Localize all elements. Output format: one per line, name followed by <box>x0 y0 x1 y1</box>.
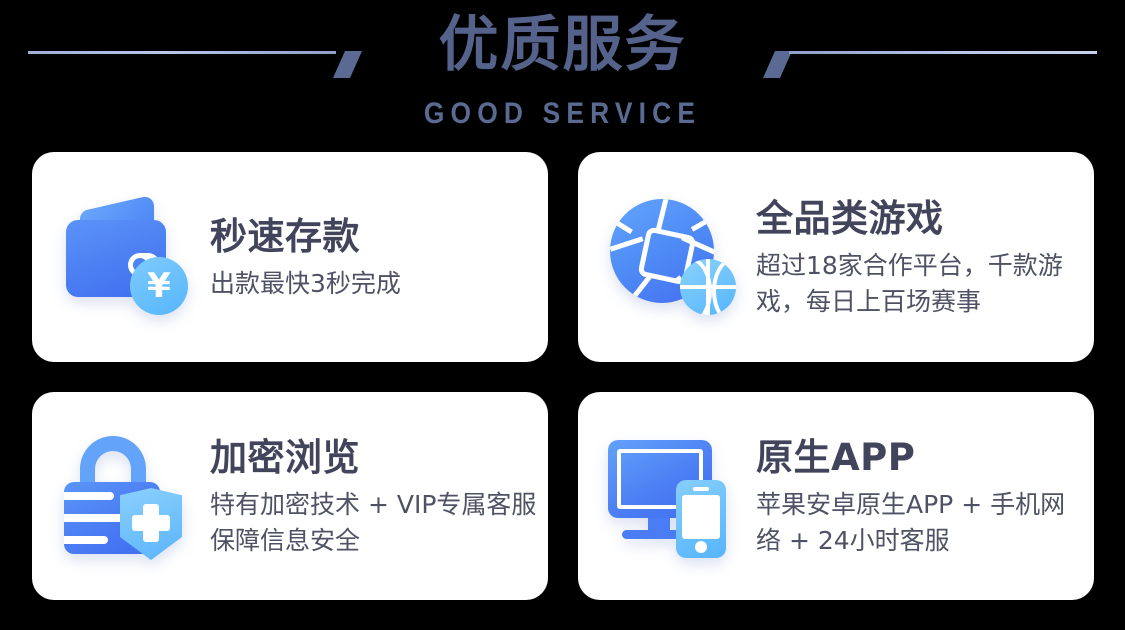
card-description: 超过18家合作平台，千款游戏，每日上百场赛事 <box>756 248 1086 320</box>
lock-slot <box>64 536 108 544</box>
card-text-block: 秒速存款 出款最快3秒完成 <box>210 212 401 302</box>
service-card-games[interactable]: 全品类游戏 超过18家合作平台，千款游戏，每日上百场赛事 <box>578 152 1094 362</box>
card-text-block: 原生APP 苹果安卓原生APP + 手机网络 + 24小时客服 <box>756 433 1086 559</box>
card-title: 秒速存款 <box>210 214 401 260</box>
basketball-icon <box>680 259 736 315</box>
card-text-block: 全品类游戏 超过18家合作平台，千款游戏，每日上百场赛事 <box>756 194 1086 320</box>
page-header: 优质服务 GOOD SERVICE <box>0 0 1125 150</box>
soccer-seam <box>625 275 651 303</box>
phone-home-button <box>695 541 707 553</box>
soccer-seam <box>610 213 633 234</box>
yen-coin-badge: ¥ <box>130 257 188 315</box>
phone-icon <box>676 480 726 558</box>
phone-speaker <box>693 487 709 491</box>
soccer-seam <box>610 236 643 251</box>
basketball-curve <box>712 259 736 315</box>
soccer-basketball-icon <box>604 187 744 327</box>
card-text-block: 加密浏览 特有加密技术 + VIP专属客服保障信息安全 <box>210 433 540 559</box>
phone-screen <box>682 495 720 539</box>
card-description: 苹果安卓原生APP + 手机网络 + 24小时客服 <box>756 487 1086 559</box>
card-title: 全品类游戏 <box>756 196 1086 242</box>
card-description: 出款最快3秒完成 <box>210 266 401 302</box>
soccer-seam <box>691 211 714 231</box>
lock-slot <box>64 492 114 500</box>
lock-slot <box>64 514 126 522</box>
page-title: 优质服务 <box>0 8 1125 82</box>
service-card-deposit[interactable]: ¥ 秒速存款 出款最快3秒完成 <box>32 152 548 362</box>
service-card-native-app[interactable]: 原生APP 苹果安卓原生APP + 手机网络 + 24小时客服 <box>578 392 1094 600</box>
soccer-seam <box>655 199 670 233</box>
service-card-grid: ¥ 秒速存款 出款最快3秒完成 <box>32 152 1094 600</box>
service-card-encryption[interactable]: 加密浏览 特有加密技术 + VIP专属客服保障信息安全 <box>32 392 548 600</box>
card-title: 原生APP <box>756 435 1086 481</box>
monitor-phone-icon <box>604 426 744 566</box>
wallet-yen-icon: ¥ <box>58 187 198 327</box>
page-subtitle: GOOD SERVICE <box>68 96 1058 132</box>
card-title: 加密浏览 <box>210 435 540 481</box>
lock-shield-icon <box>58 426 198 566</box>
card-description: 特有加密技术 + VIP专属客服保障信息安全 <box>210 487 540 559</box>
